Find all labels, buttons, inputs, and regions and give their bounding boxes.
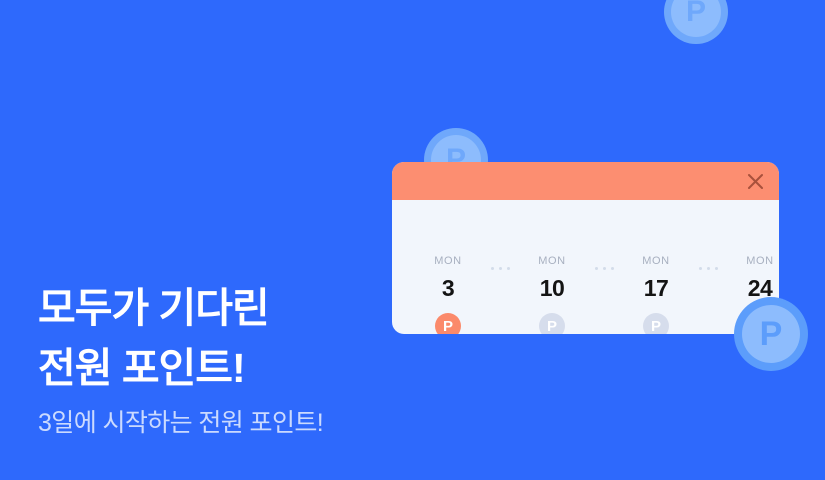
point-badge-icon: P	[643, 313, 669, 334]
dot	[707, 267, 710, 270]
schedule-card: MON 3 P MON 10 P	[392, 162, 779, 334]
day-number-label: 10	[540, 277, 565, 300]
dot	[491, 267, 494, 270]
dot	[611, 267, 614, 270]
coin-icon-top-right: P	[664, 0, 728, 44]
card-body: MON 3 P MON 10 P	[392, 200, 779, 334]
coin-letter: P	[760, 317, 783, 351]
point-badge-icon: P	[435, 313, 461, 334]
headline-line-1: 모두가 기다린	[38, 278, 269, 338]
headline-line-2: 전원 포인트!	[38, 338, 269, 398]
day-column-2[interactable]: MON 10 P	[515, 256, 589, 334]
headline: 모두가 기다린 전원 포인트!	[38, 278, 269, 399]
dot	[715, 267, 718, 270]
close-icon[interactable]	[741, 167, 769, 195]
day-weekday-label: MON	[434, 256, 461, 267]
day-number-label: 3	[442, 277, 454, 300]
coin-inner-disc: P	[742, 305, 800, 363]
days-row: MON 3 P MON 10 P	[392, 200, 779, 334]
dot	[595, 267, 598, 270]
day-separator-dots	[693, 267, 723, 270]
day-weekday-label: MON	[746, 256, 773, 267]
day-weekday-label: MON	[538, 256, 565, 267]
day-separator-dots	[589, 267, 619, 270]
dot	[603, 267, 606, 270]
subtitle: 3일에 시작하는 전원 포인트!	[38, 406, 323, 441]
dot	[699, 267, 702, 270]
promo-banner: P P MON 3 P	[0, 0, 825, 480]
dot	[507, 267, 510, 270]
dot	[499, 267, 502, 270]
day-column-3[interactable]: MON 17 P	[619, 256, 693, 334]
day-weekday-label: MON	[642, 256, 669, 267]
day-separator-dots	[485, 267, 515, 270]
day-column-1[interactable]: MON 3 P	[411, 256, 485, 334]
coin-inner-disc: P	[671, 0, 721, 37]
coin-letter: P	[686, 0, 706, 27]
point-badge-icon: P	[539, 313, 565, 334]
day-number-label: 17	[644, 277, 669, 300]
coin-icon-bottom-right: P	[734, 297, 808, 371]
card-header	[392, 162, 779, 200]
